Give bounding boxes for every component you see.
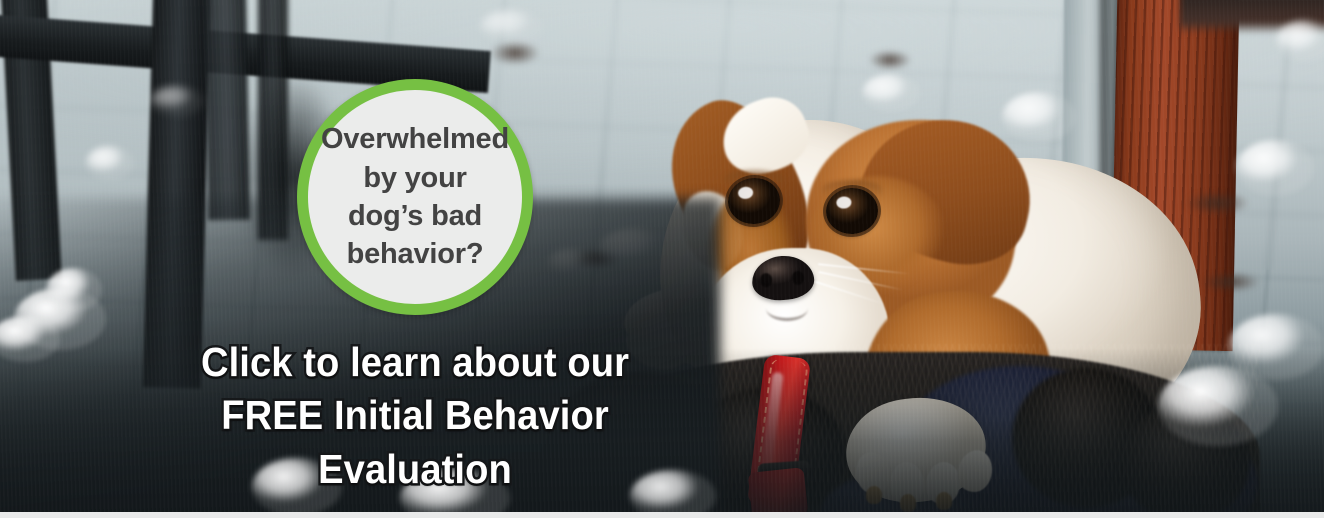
headline-line-3: Evaluation [29, 443, 801, 496]
stuffing-fluff [46, 268, 102, 312]
stuffing-fluff [1158, 366, 1278, 446]
badge-line-3: dog’s bad [348, 200, 482, 232]
headline-line-2: FREE Initial Behavior [29, 389, 801, 442]
headline-line-1: Click to learn about our [29, 336, 801, 389]
eye-glint [836, 196, 852, 209]
eye-glint [738, 186, 754, 200]
badge-line-2: by your [363, 162, 466, 194]
promo-banner[interactable]: Overwhelmed by your dog’s bad behavior? … [0, 0, 1324, 518]
badge-line-1: Overwhelmed [321, 123, 509, 155]
dog-mouth [766, 296, 808, 321]
cta-headline[interactable]: Click to learn about our FREE Initial Be… [29, 336, 801, 496]
nostril [760, 273, 773, 288]
bottom-light-strip [0, 512, 1324, 518]
badge-line-4: behavior? [347, 238, 484, 270]
badge-text: Overwhelmed by your dog’s bad behavior? [313, 120, 517, 273]
nostril [792, 271, 805, 286]
overwhelmed-badge[interactable]: Overwhelmed by your dog’s bad behavior? [297, 79, 533, 315]
